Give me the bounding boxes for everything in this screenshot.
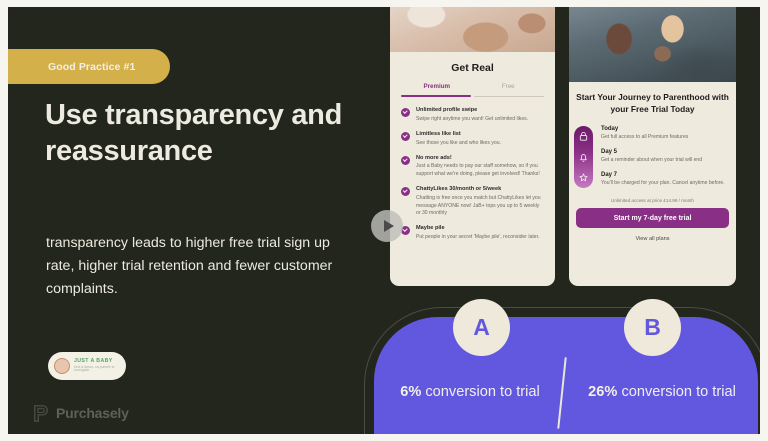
paywall-a-title: Get Real <box>401 62 544 74</box>
list-item: Today Get full access to all Premium fea… <box>601 126 732 142</box>
lock-icon <box>578 131 589 142</box>
list-item: Day 5 Get a reminder about when your tri… <box>601 149 732 165</box>
list-item: Limitless like list See those you like a… <box>401 131 544 147</box>
paywall-variant-b: Start Your Journey to Parenthood with yo… <box>569 7 736 286</box>
list-item: Maybe pile Put people in your secret 'Ma… <box>401 225 544 241</box>
variant-badge-b: B <box>624 299 681 356</box>
timeline-step-desc: Get full access to all Premium features <box>601 134 732 142</box>
check-icon <box>401 132 410 141</box>
list-item: ChattyLikes 30/month or 5/week Chatting … <box>401 186 544 218</box>
feature-title: Maybe pile <box>416 225 539 232</box>
feature-desc: Put people in your secret 'Maybe pile', … <box>416 234 539 242</box>
variant-badge-a: A <box>453 299 510 356</box>
conversion-stat-b: 26% conversion to trial <box>587 383 737 402</box>
client-logo-name: JUST A BABY <box>74 359 126 364</box>
start-free-trial-button[interactable]: Start my 7-day free trial <box>576 208 729 228</box>
baby-face-icon <box>54 358 70 374</box>
play-icon <box>384 220 394 232</box>
play-button[interactable] <box>371 210 403 242</box>
paywall-b-hero-image <box>569 7 736 82</box>
conversion-stat-a: 6% conversion to trial <box>395 383 545 402</box>
timeline-step-title: Today <box>601 126 732 132</box>
view-all-plans-link[interactable]: View all plans <box>569 236 736 242</box>
conversion-value-a: 6% <box>400 384 421 400</box>
feature-desc: Swipe right anytime you want! Get unlimi… <box>416 116 528 124</box>
conversion-panel: 6% conversion to trial 26% conversion to… <box>374 317 758 434</box>
timeline-rail <box>574 126 593 188</box>
paywall-variant-a: Get Real Premium Free Unlimited profile … <box>390 7 555 286</box>
feature-desc: Chatting is free once you match but Chat… <box>416 195 544 218</box>
feature-desc: Just a Baby needs to pay our staff someh… <box>416 163 544 178</box>
conversion-label-a: conversion to trial <box>421 384 539 400</box>
supporting-copy: transparency leads to higher free trial … <box>46 232 346 301</box>
list-item: No more ads! Just a Baby needs to pay ou… <box>401 155 544 179</box>
feature-title: ChattyLikes 30/month or 5/week <box>416 186 544 193</box>
paywall-a-feature-list: Unlimited profile swipe Swipe right anyt… <box>401 107 544 242</box>
timeline-step-desc: Get a reminder about when your trial wil… <box>601 157 732 165</box>
good-practice-badge-label: Good Practice #1 <box>48 61 135 73</box>
timeline-step-title: Day 7 <box>601 172 732 178</box>
timeline-steps: Today Get full access to all Premium fea… <box>601 126 732 188</box>
conversion-label-b: conversion to trial <box>617 384 735 400</box>
page-title: Use transparency and reassurance <box>45 97 375 170</box>
feature-title: No more ads! <box>416 155 544 162</box>
feature-desc: See those you like and who likes you. <box>416 140 501 148</box>
feature-title: Limitless like list <box>416 131 501 138</box>
tab-premium[interactable]: Premium <box>401 83 473 95</box>
timeline-step-title: Day 5 <box>601 149 732 155</box>
paywall-a-tab-indicator <box>401 95 544 97</box>
check-icon <box>401 108 410 117</box>
client-logo-tagline: find a donor, co-parent or surrogate <box>74 366 126 372</box>
list-item: Unlimited profile swipe Swipe right anyt… <box>401 107 544 123</box>
client-logo-text: JUST A BABY find a donor, co-parent or s… <box>74 359 126 372</box>
tab-free[interactable]: Free <box>473 83 545 95</box>
purchasely-logo-name: Purchasely <box>56 405 129 421</box>
conversion-value-b: 26% <box>588 384 617 400</box>
check-icon <box>401 187 410 196</box>
good-practice-badge: Good Practice #1 <box>8 49 170 84</box>
timeline-step-desc: You'll be charged for your plan. Cancel … <box>601 180 732 188</box>
list-item: Day 7 You'll be charged for your plan. C… <box>601 172 732 188</box>
client-logo: JUST A BABY find a donor, co-parent or s… <box>48 352 126 380</box>
paywall-a-tabs: Premium Free <box>401 83 544 95</box>
bell-icon <box>578 152 589 163</box>
paywall-a-hero-image <box>390 7 555 52</box>
price-note: Unlimited access at price £14.99 / month <box>569 198 736 203</box>
purchasely-mark-icon <box>32 403 50 423</box>
feature-title: Unlimited profile swipe <box>416 107 528 114</box>
paywall-b-heading: Start Your Journey to Parenthood with yo… <box>575 91 730 115</box>
slide-canvas: Good Practice #1 Use transparency and re… <box>8 7 760 434</box>
purchasely-logo: Purchasely <box>32 403 129 423</box>
paywall-b-timeline: Today Get full access to all Premium fea… <box>574 126 732 188</box>
check-icon <box>401 156 410 165</box>
star-icon <box>578 172 589 183</box>
